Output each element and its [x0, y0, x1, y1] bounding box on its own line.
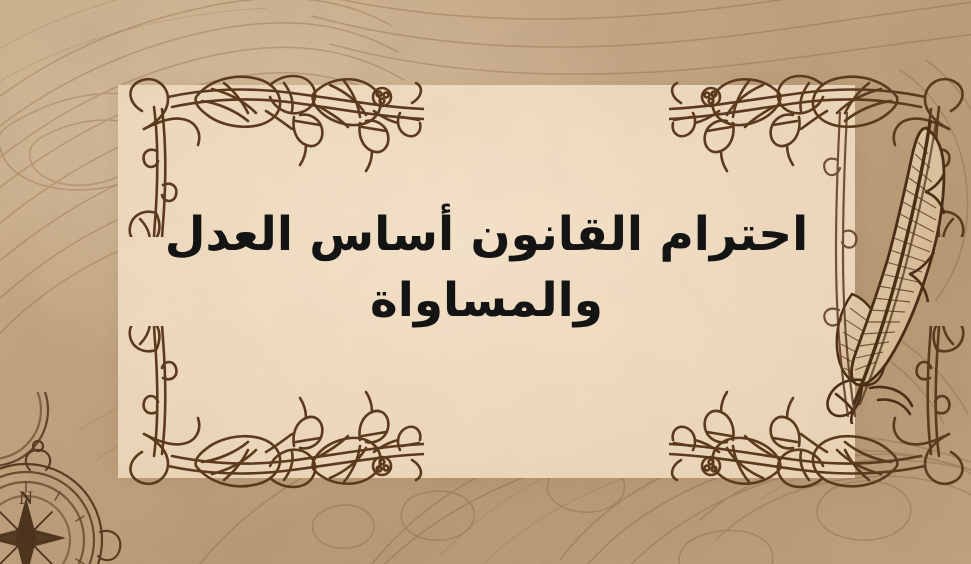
slide-title: احترام القانون أساس العدل والمساواة [165, 202, 809, 334]
slide-canvas: N احترام القانون أساس العدل والمساواة [0, 0, 971, 564]
title-block: احترام القانون أساس العدل والمساواة [118, 85, 855, 478]
